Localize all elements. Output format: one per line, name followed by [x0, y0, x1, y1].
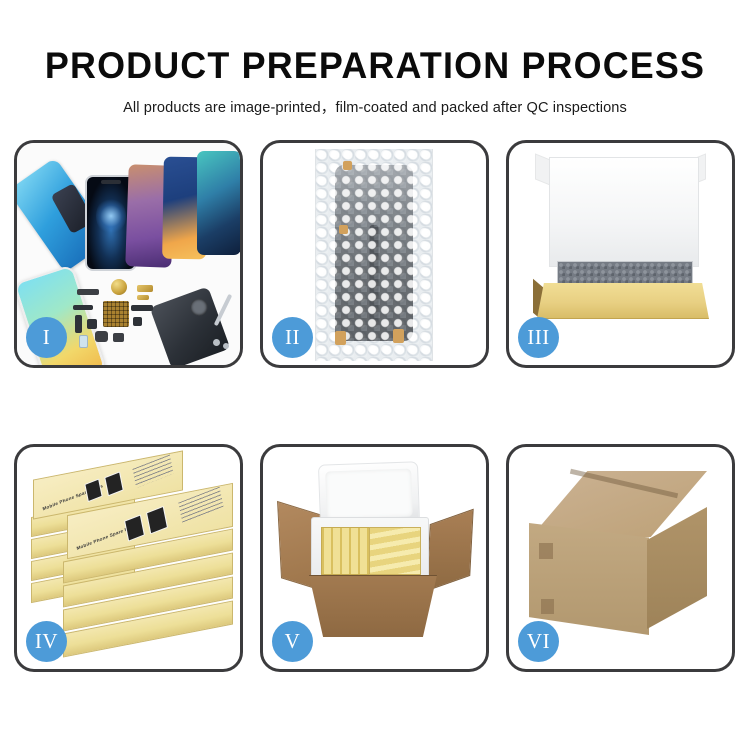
page-subtitle: All products are image-printed，film-coat…: [0, 84, 750, 116]
white-box-lid-icon: [549, 157, 699, 267]
sim-tray-icon: [79, 335, 88, 348]
header: PRODUCT PREPARATION PROCESS All products…: [0, 0, 750, 116]
flex-cable-3-icon: [131, 305, 153, 311]
carton-tape-upper: [539, 543, 553, 559]
tape-tab-top-icon: [343, 161, 352, 170]
step-badge-5: V: [272, 621, 313, 662]
ic-chip-icon: [87, 319, 97, 329]
box-spec-lines: [178, 487, 223, 524]
tape-tab-bottom-right-icon: [393, 329, 404, 343]
tape-tab-mid-icon: [339, 225, 348, 234]
box-art-phone-1: [84, 478, 102, 502]
flex-cable-icon: [73, 305, 93, 310]
screw-tray-icon: [103, 301, 129, 327]
screw-2-icon: [223, 343, 229, 349]
button-part-icon: [133, 317, 142, 326]
small-part-icon: [77, 289, 99, 295]
process-step-grid: I II III: [14, 140, 736, 688]
screw-icon: [213, 339, 220, 346]
flex-cable-2-icon: [75, 315, 82, 333]
process-step-panel-1[interactable]: I: [14, 140, 243, 368]
bubble-texture-overlay: [315, 149, 433, 361]
yellow-boxes-row-2: [369, 527, 421, 575]
box-art-phone-1: [124, 514, 145, 541]
yellow-box-tray-icon: [537, 283, 709, 319]
step-badge-4: IV: [26, 621, 67, 662]
carton-body-icon: [309, 575, 437, 637]
process-step-panel-3[interactable]: III: [506, 140, 735, 368]
carton-tape-lower: [541, 599, 554, 614]
camera-module-icon: [95, 331, 108, 342]
gold-connector-2-icon: [137, 295, 149, 300]
teal-phone-icon: [197, 151, 240, 255]
speaker-coin-part-icon: [111, 279, 127, 295]
carton-front-face: [529, 523, 649, 635]
process-step-panel-5[interactable]: V: [260, 444, 489, 672]
box-art-phone-2: [146, 506, 168, 535]
process-step-panel-4[interactable]: Mobile Phone Spare Parts Mobile Phone Sp…: [14, 444, 243, 672]
vibrator-part-icon: [113, 333, 124, 342]
process-step-panel-2[interactable]: II: [260, 140, 489, 368]
product-preparation-infographic: PRODUCT PREPARATION PROCESS All products…: [0, 0, 750, 750]
phone-back-cover-icon: [150, 286, 231, 365]
step-badge-1: I: [26, 317, 67, 358]
tape-tab-bottom-left-icon: [335, 331, 346, 345]
step-badge-2: II: [272, 317, 313, 358]
step-badge-6: VI: [518, 621, 559, 662]
step-badge-3: III: [518, 317, 559, 358]
gold-connector-icon: [137, 285, 153, 292]
process-step-panel-6[interactable]: VI: [506, 444, 735, 672]
page-title: PRODUCT PREPARATION PROCESS: [11, 0, 739, 84]
box-spec-lines: [132, 455, 173, 488]
box-art-phone-2: [104, 471, 124, 496]
